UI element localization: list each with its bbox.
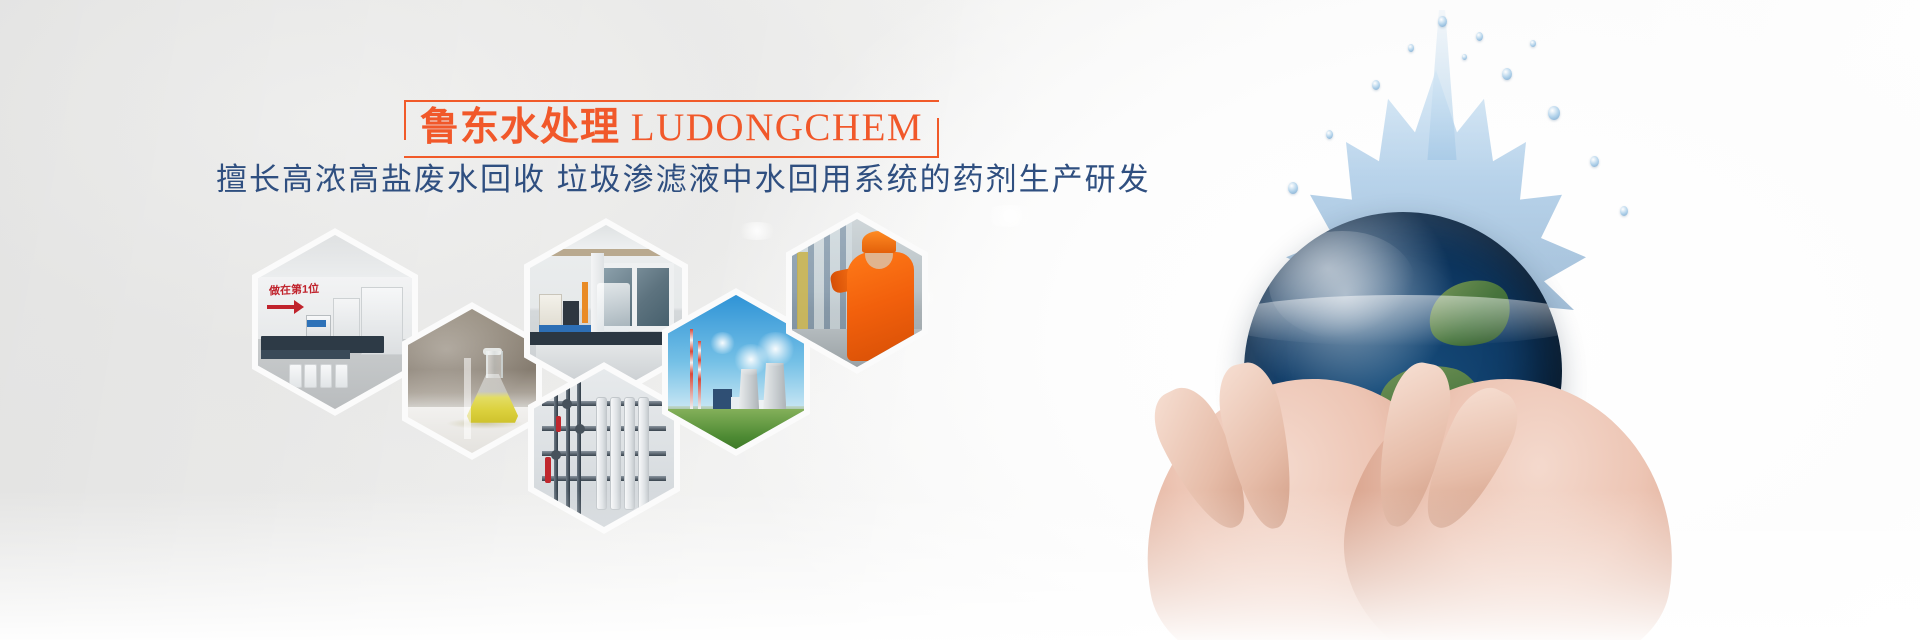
water-globe-artwork: [1080, 0, 1920, 640]
water-droplet: [1620, 206, 1628, 216]
water-droplet: [1372, 80, 1380, 90]
water-droplet: [1462, 54, 1467, 60]
water-droplet: [1438, 16, 1447, 27]
water-droplet: [1326, 130, 1333, 139]
water-droplet: [1476, 32, 1483, 41]
water-droplet: [1502, 68, 1512, 80]
water-jet: [1416, 10, 1468, 160]
gallery-hex-flask[interactable]: [402, 302, 542, 460]
hands-holding: [1132, 350, 1732, 640]
arrow-icon: [267, 305, 301, 309]
water-droplet: [1530, 40, 1536, 47]
globe-gloss: [1269, 231, 1415, 339]
hexagon-gallery: 做在第1位: [0, 0, 1000, 640]
hero-banner: 鲁东水处理 LUDONGCHEM 擅长高浓高盐废水回收 垃圾渗滤液中水回用系统的…: [0, 0, 1920, 640]
water-droplet: [1548, 106, 1560, 120]
gallery-hex-ro-skid[interactable]: [528, 362, 680, 534]
water-droplet: [1408, 44, 1414, 52]
water-droplet: [1590, 156, 1599, 167]
water-droplet: [1288, 182, 1298, 194]
flask-icon: [467, 351, 518, 423]
gallery-hex-laboratory-room[interactable]: 做在第1位: [252, 228, 418, 416]
